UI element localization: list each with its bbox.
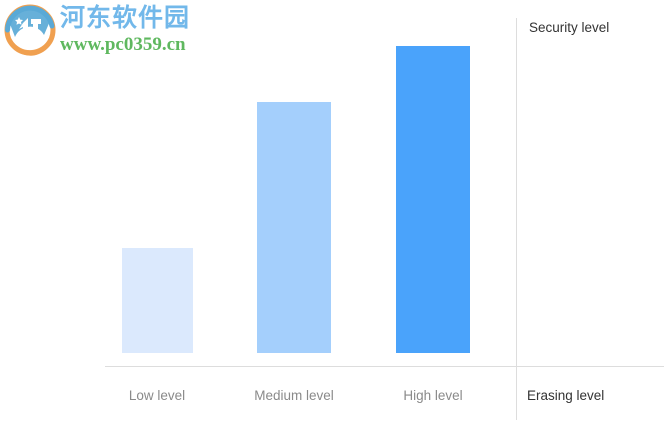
screenshot-root: 河东软件园 www.pc0359.cn Low level Medium lev… <box>0 0 664 430</box>
x-axis-title: Erasing level <box>527 388 604 403</box>
y-axis-title: Security level <box>529 20 609 35</box>
security-level-bar-chart: Low level Medium level High level Erasin… <box>0 0 664 430</box>
axis-title-divider-line <box>516 18 517 420</box>
watermark: 河东软件园 www.pc0359.cn <box>4 4 190 56</box>
bar-high-level <box>396 46 470 353</box>
bar-medium-level <box>257 102 331 353</box>
watermark-site-url: www.pc0359.cn <box>60 34 190 56</box>
watermark-site-name: 河东软件园 <box>60 4 190 32</box>
x-tick-label-low-level: Low level <box>107 388 207 403</box>
hedong-software-park-logo-icon <box>4 4 56 56</box>
bar-low-level <box>122 248 193 353</box>
x-axis-line <box>105 366 664 367</box>
x-tick-label-medium-level: Medium level <box>234 388 354 403</box>
watermark-text: 河东软件园 www.pc0359.cn <box>60 4 190 56</box>
x-tick-label-high-level: High level <box>383 388 483 403</box>
